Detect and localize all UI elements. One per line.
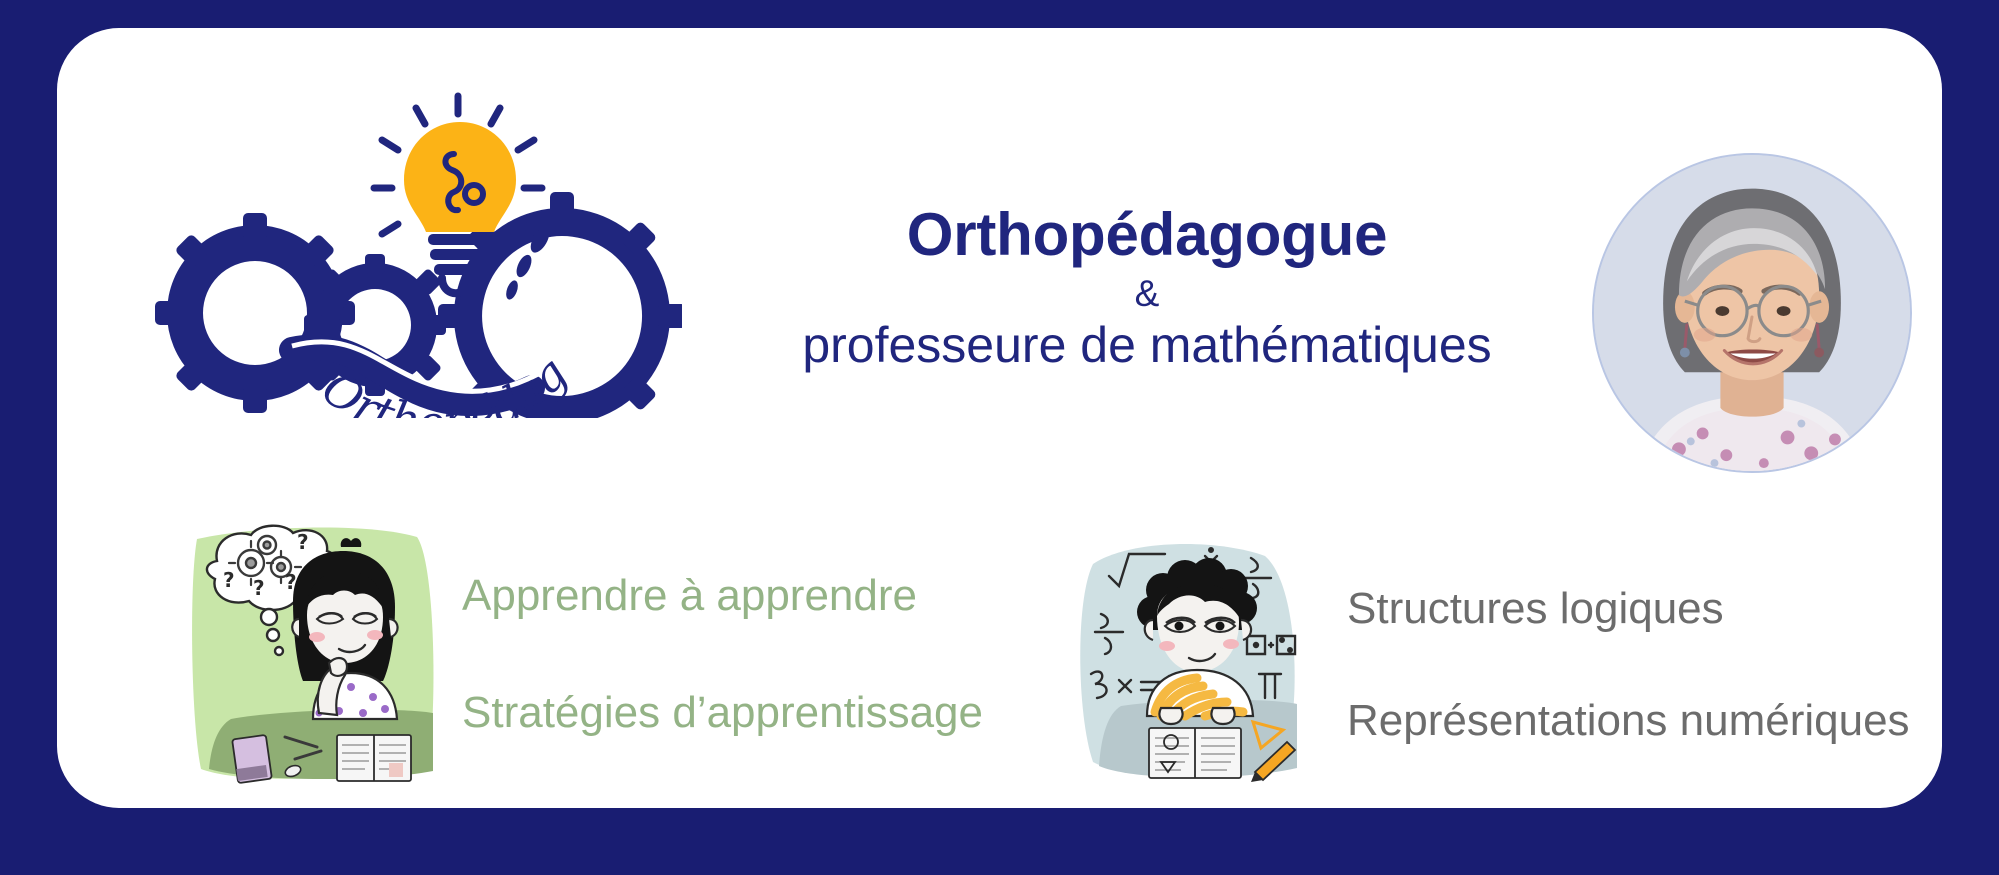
svg-text:?: ? (253, 576, 265, 600)
banner-root: Orthopédagogie Orthopédagogue & professe… (0, 0, 1999, 875)
feature-representations-numeriques: Représentations numériques (1347, 696, 1910, 746)
headline-block: Orthopédagogue & professeure de mathémat… (717, 203, 1577, 372)
avatar (1592, 153, 1912, 473)
page-title: Orthopédagogue (717, 203, 1577, 268)
feature-strategies-apprentissage: Stratégies d’apprentissage (462, 688, 983, 738)
math-boy-illustration (1065, 526, 1315, 791)
title-ampersand: & (717, 274, 1577, 314)
thinking-girl-illustration: ? ? ? ? (189, 523, 439, 788)
feature-structures-logiques: Structures logiques (1347, 584, 1724, 634)
svg-text:?: ? (297, 530, 309, 554)
page-subtitle: professeure de mathématiques (717, 318, 1577, 372)
orthopedagogie-logo[interactable]: Orthopédagogie (142, 88, 682, 418)
feature-apprendre-a-apprendre: Apprendre à apprendre (462, 571, 917, 621)
white-card: Orthopédagogie Orthopédagogue & professe… (57, 28, 1942, 808)
svg-text:?: ? (223, 568, 235, 592)
